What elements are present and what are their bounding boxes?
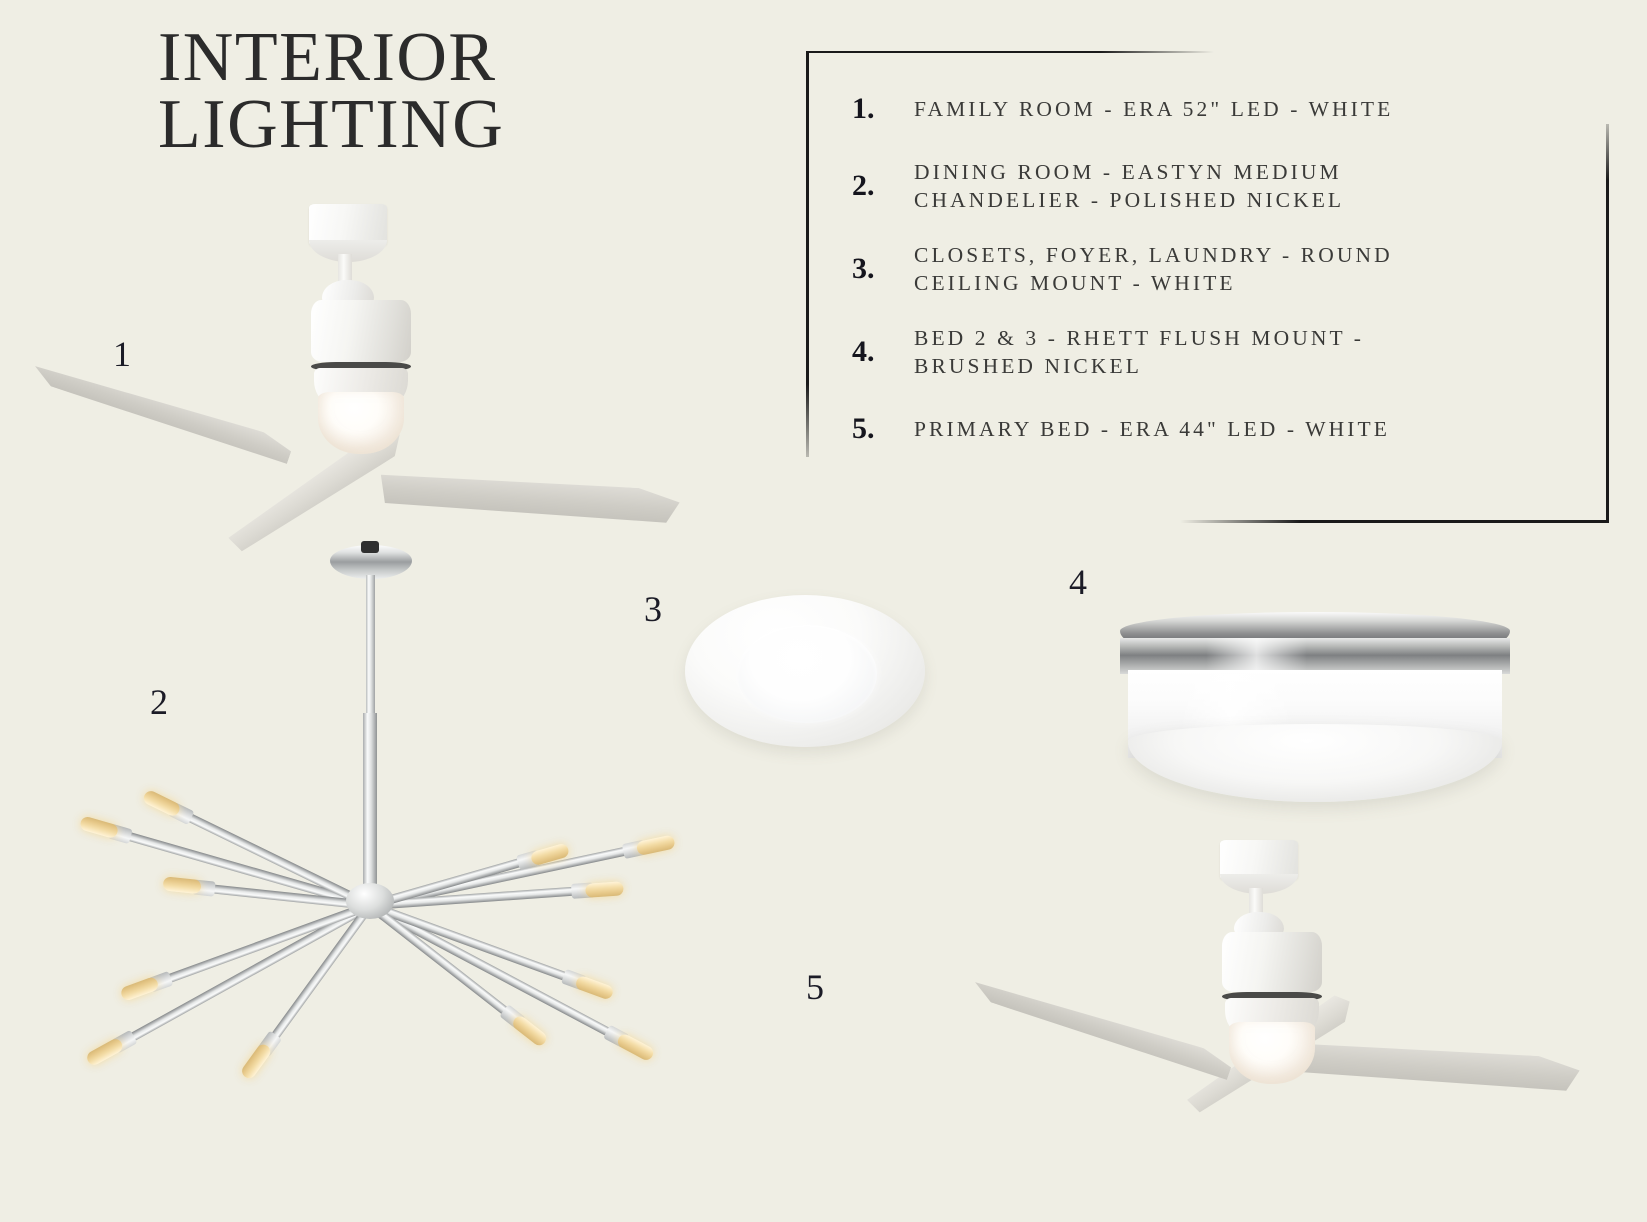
chandelier-arm xyxy=(367,902,519,1024)
fan-motor-housing xyxy=(1222,932,1322,992)
chandelier-bulb xyxy=(141,789,181,818)
legend-item-5-number: 5. xyxy=(852,412,914,446)
chandelier-bulb xyxy=(162,877,201,895)
legend-list: 1. FAMILY ROOM - ERA 52" LED - WHITE 2. … xyxy=(852,86,1592,478)
fan-blade-lower-left xyxy=(970,971,1234,1083)
chandelier-bulb xyxy=(511,1013,550,1047)
chandelier-bulb xyxy=(574,974,614,1000)
product-image-era-52-ceiling-fan xyxy=(0,180,720,480)
fan-blade-lower-left xyxy=(30,355,294,467)
chandelier-arm xyxy=(368,901,580,985)
fan-motor-housing xyxy=(311,300,411,362)
product-image-round-ceiling-mount xyxy=(685,595,925,755)
fan-light-globe xyxy=(1229,1022,1315,1084)
chandelier-bulb xyxy=(616,1032,656,1062)
product-image-rhett-flush-mount xyxy=(1120,612,1510,802)
legend-frame-bottom-line xyxy=(1180,520,1609,523)
legend-frame-left-line xyxy=(806,51,809,457)
legend-item-1-number: 1. xyxy=(852,92,914,126)
product-marker-4: 4 xyxy=(1069,561,1087,603)
chandelier-bulb xyxy=(120,976,160,1002)
title-line-2: LIGHTING xyxy=(158,91,718,158)
title-line-1: INTERIOR xyxy=(158,24,718,91)
legend-item-2: 2. DINING ROOM - EASTYN MEDIUM CHANDELIE… xyxy=(852,158,1592,215)
legend-frame-right-line xyxy=(1606,124,1609,523)
legend-item-2-label: DINING ROOM - EASTYN MEDIUM CHANDELIER -… xyxy=(914,158,1592,215)
legend-item-4-label: BED 2 & 3 - RHETT FLUSH MOUNT - BRUSHED … xyxy=(914,324,1592,381)
chandelier-bulb xyxy=(636,834,676,856)
legend-item-3-number: 3. xyxy=(852,252,914,286)
mood-board: INTERIOR LIGHTING 1. FAMILY ROOM - ERA 5… xyxy=(0,0,1647,1222)
chandelier-bulb xyxy=(240,1042,274,1081)
legend-item-4: 4. BED 2 & 3 - RHETT FLUSH MOUNT - BRUSH… xyxy=(852,324,1592,381)
legend-item-1-label: FAMILY ROOM - ERA 52" LED - WHITE xyxy=(914,95,1592,123)
product-image-era-44-ceiling-fan xyxy=(790,820,1510,1120)
legend-item-3-label: CLOSETS, FOYER, LAUNDRY - ROUND CEILING … xyxy=(914,241,1592,298)
flush-mount-nickel-band xyxy=(1120,638,1510,674)
chandelier-center-hub xyxy=(346,883,394,919)
legend-item-4-number: 4. xyxy=(852,335,914,369)
legend-item-5-label: PRIMARY BED - ERA 44" LED - WHITE xyxy=(914,415,1592,443)
disc-light-lens xyxy=(737,625,877,723)
legend-item-2-number: 2. xyxy=(852,169,914,203)
chandelier-bulb xyxy=(79,816,119,840)
chandelier-bulb xyxy=(585,881,624,898)
legend-item-5: 5. PRIMARY BED - ERA 44" LED - WHITE xyxy=(852,406,1592,452)
chandelier-canopy-nut xyxy=(361,541,379,553)
page-title: INTERIOR LIGHTING xyxy=(158,24,718,158)
product-image-eastyn-chandelier xyxy=(40,505,680,1085)
chandelier-lower-stem xyxy=(363,713,377,895)
legend-item-1: 1. FAMILY ROOM - ERA 52" LED - WHITE xyxy=(852,86,1592,132)
fan-blade-right xyxy=(1279,1038,1581,1093)
legend-item-3: 3. CLOSETS, FOYER, LAUNDRY - ROUND CEILI… xyxy=(852,241,1592,298)
legend-frame-top-line xyxy=(806,51,1214,53)
flush-mount-glass-bottom xyxy=(1128,724,1502,802)
